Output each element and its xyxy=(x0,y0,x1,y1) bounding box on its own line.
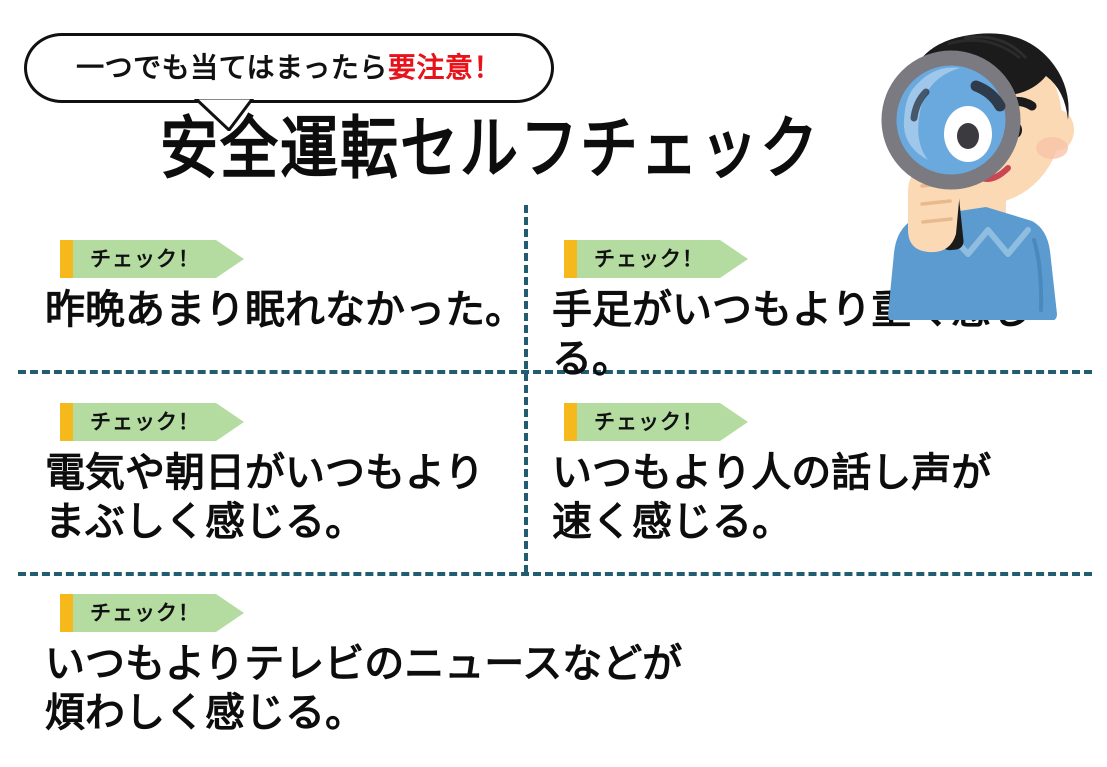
check-item-text-4: いつもより人の話し声が 速く感じる。 xyxy=(552,449,991,547)
check-item-text-3: 電気や朝日がいつもより まぶしく感じる。 xyxy=(45,449,484,547)
check-badge-label: チェック！ xyxy=(594,249,704,270)
speech-bubble-body: 一つでも当てはまったら要注意！ xyxy=(24,33,554,103)
check-badge-2: チェック！ xyxy=(564,240,748,278)
check-item-text-1: 昨晩あまり眠れなかった。 xyxy=(45,286,525,335)
check-badge-label: チェック！ xyxy=(90,603,200,624)
divider-horizontal-bottom xyxy=(18,572,1092,576)
speech-bubble-text-plain: 一つでも当てはまったら xyxy=(76,51,388,84)
check-badge-5: チェック！ xyxy=(60,594,244,632)
illustration-man-with-magnifying-glass xyxy=(856,8,1102,320)
speech-bubble: 一つでも当てはまったら要注意！ xyxy=(24,33,554,103)
check-item-4: チェック！ いつもより人の話し声が 速く感じる。 xyxy=(552,403,991,547)
check-item-text-5: いつもよりテレビのニュースなどが 煩わしく感じる。 xyxy=(45,640,682,738)
check-badge-3: チェック！ xyxy=(60,403,244,441)
check-item-3: チェック！ 電気や朝日がいつもより まぶしく感じる。 xyxy=(45,403,484,547)
check-badge-label: チェック！ xyxy=(594,412,704,433)
check-badge-label: チェック！ xyxy=(90,249,200,270)
speech-bubble-text: 一つでも当てはまったら要注意！ xyxy=(76,54,502,82)
man-with-magnifying-glass-icon xyxy=(856,8,1102,320)
check-badge-1: チェック！ xyxy=(60,240,244,278)
check-badge-label: チェック！ xyxy=(90,412,200,433)
check-item-1: チェック！ 昨晩あまり眠れなかった。 xyxy=(45,240,525,335)
speech-bubble-text-accent: 要注意！ xyxy=(388,51,502,84)
check-badge-4: チェック！ xyxy=(564,403,748,441)
page-title: 安全運転セルフチェック xyxy=(160,112,820,187)
check-item-5: チェック！ いつもよりテレビのニュースなどが 煩わしく感じる。 xyxy=(45,594,682,738)
poster-root: 一つでも当てはまったら要注意！ 安全運転セルフチェック チェック！ 昨晩あまり眠… xyxy=(0,0,1107,767)
